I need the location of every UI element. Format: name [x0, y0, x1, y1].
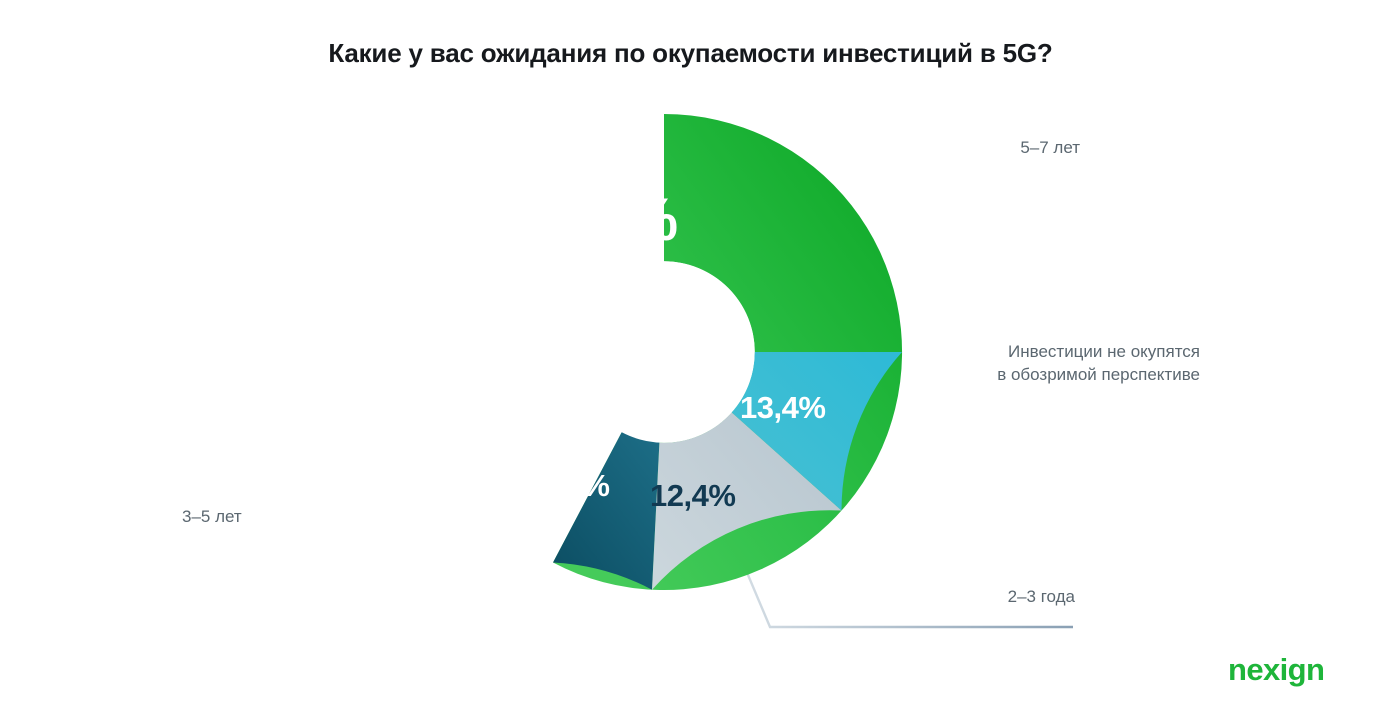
donut-hole	[573, 261, 754, 442]
slice-value-two-three: 12,4%	[650, 478, 735, 514]
nexign-logo: nexign	[1228, 652, 1324, 688]
callout-label-never: Инвестиции не окупятся в обозримой персп…	[880, 340, 1200, 387]
callout-label-three-five: 3–5 лет	[182, 505, 382, 528]
slice-value-three-five: 16,5%	[524, 468, 609, 504]
slice-value-never: 13,4%	[740, 390, 825, 426]
slice-value-five-seven: 57,7%	[510, 185, 678, 254]
callout-label-five-seven: 5–7 лет	[820, 136, 1080, 159]
donut-svg	[424, 112, 904, 592]
donut-chart	[424, 112, 904, 592]
chart-canvas: Какие у вас ожидания по окупаемости инве…	[0, 0, 1381, 710]
page-title: Какие у вас ожидания по окупаемости инве…	[0, 38, 1381, 69]
callout-label-two-three: 2–3 года	[820, 585, 1075, 608]
